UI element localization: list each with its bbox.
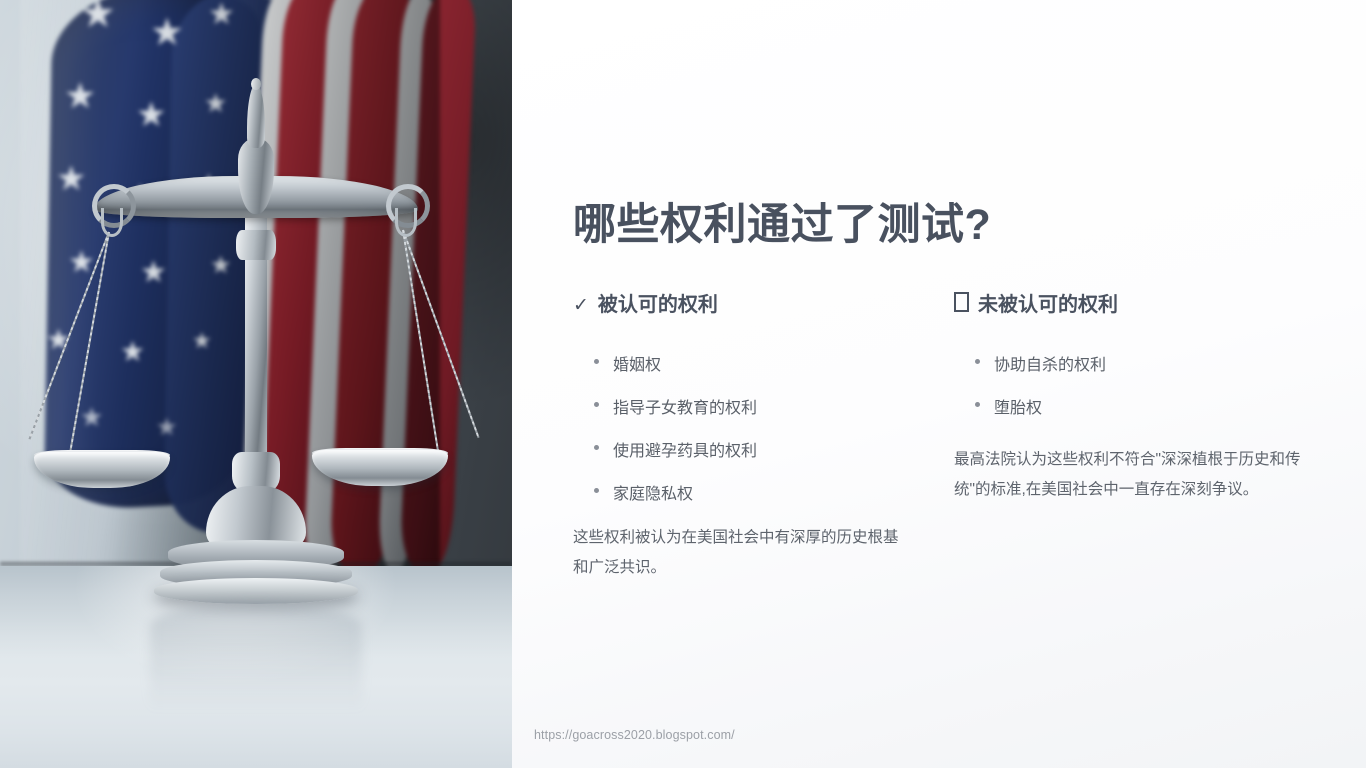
unrecognized-rights-heading-label: 未被认可的权利	[978, 288, 1118, 317]
scale-base-bottom	[154, 578, 358, 604]
list-item: 指导子女教育的权利	[573, 394, 952, 418]
recognized-rights-heading: ✓ 被认可的权利	[573, 288, 952, 317]
rights-comparison: ✓ 被认可的权利 婚姻权 指导子女教育的权利 使用避孕药具的权利 家庭隐私权 这…	[573, 288, 1333, 583]
recognized-rights-list: 婚姻权 指导子女教育的权利 使用避孕药具的权利 家庭隐私权	[573, 351, 952, 504]
recognized-rights-note: 这些权利被认为在美国社会中有深厚的历史根基和广泛共识。	[573, 523, 913, 583]
chain	[29, 232, 110, 440]
scales-of-justice-icon	[0, 0, 512, 768]
unrecognized-rights-list: 协助自杀的权利 堕胎权	[954, 351, 1333, 418]
list-item: 婚姻权	[573, 351, 952, 375]
scale-capital	[236, 230, 276, 260]
recognized-rights-heading-label: 被认可的权利	[598, 288, 718, 317]
scale-hook	[395, 208, 417, 237]
hero-image-panel: ★ ★ ★ ★ ★ ★ ★ ★ ★ ★ ★ ★ ★ ★ ★ ★ ★	[0, 0, 512, 768]
scale-hook	[101, 208, 123, 237]
check-icon: ✓	[573, 294, 589, 317]
chain	[69, 232, 110, 454]
content-panel: 哪些权利通过了测试? ✓ 被认可的权利 婚姻权 指导子女教育的权利 使用避孕药具…	[512, 0, 1366, 768]
scale-finial-knob	[251, 78, 261, 90]
chain	[402, 230, 439, 452]
slide-root: ★ ★ ★ ★ ★ ★ ★ ★ ★ ★ ★ ★ ★ ★ ★ ★ ★	[0, 0, 1366, 768]
scale-reflection	[150, 602, 362, 752]
list-item: 家庭隐私权	[573, 480, 952, 504]
unrecognized-rights-column: 未被认可的权利 协助自杀的权利 堕胎权 最高法院认为这些权利不符合"深深植根于历…	[952, 288, 1333, 583]
list-item: 使用避孕药具的权利	[573, 437, 952, 461]
unrecognized-rights-note: 最高法院认为这些权利不符合"深深植根于历史和传统"的标准,在美国社会中一直存在深…	[954, 445, 1302, 505]
list-item: 堕胎权	[954, 394, 1333, 418]
page-title: 哪些权利通过了测试?	[573, 190, 991, 252]
scale-finial	[247, 84, 265, 148]
scale-pan-left	[34, 452, 170, 488]
source-url[interactable]: https://goacross2020.blogspot.com/	[534, 728, 735, 742]
list-item: 协助自杀的权利	[954, 351, 1333, 375]
recognized-rights-column: ✓ 被认可的权利 婚姻权 指导子女教育的权利 使用避孕药具的权利 家庭隐私权 这…	[573, 288, 952, 583]
scale-pan-right	[312, 450, 448, 486]
scale-flare	[206, 486, 306, 548]
missing-glyph-box-icon	[954, 292, 969, 312]
chain	[402, 230, 479, 438]
unrecognized-rights-heading: 未被认可的权利	[954, 288, 1333, 317]
